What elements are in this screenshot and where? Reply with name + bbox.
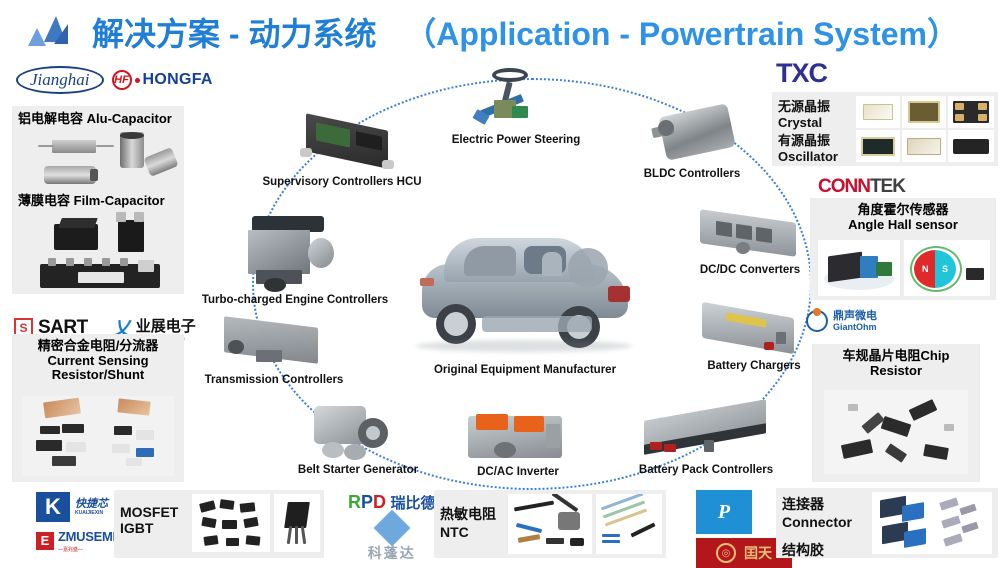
photo-mosfet-packages xyxy=(192,494,270,552)
brand-logo-giantohm: 鼎声微电 GiantOhm xyxy=(806,310,877,332)
panel-current-sensing-heading-cn: 精密合金电阻/分流器 xyxy=(12,334,184,354)
slide-title-bar: 解决方案 - 动力系统 （Application - Powertrain Sy… xyxy=(0,8,1000,56)
node-dcdc-converters-label: DC/DC Converters xyxy=(688,264,812,278)
photo-film-capacitor-tall xyxy=(108,210,156,256)
giantohm-logo: 鼎声微电 GiantOhm xyxy=(833,310,877,332)
page-title-cn: 解决方案 - 动力系统 xyxy=(92,16,376,52)
brand-logos-kuaijiexin-zmusemi: K 快捷芯KUAIJIEXIN E ZMUSEMI—嘉兆盛— xyxy=(36,492,116,553)
node-battery-pack-controllers: Battery Pack Controllers xyxy=(620,398,792,478)
hongfa-logo: HFHONGFA xyxy=(112,70,213,90)
photo-chip-resistors xyxy=(824,390,968,474)
ntc-label-en: NTC xyxy=(440,524,496,540)
photo-hall-motor xyxy=(818,240,900,296)
panel-connector: 连接器 Connector 结构胶 xyxy=(776,488,998,558)
node-supervisory-controllers-label: Supervisory Controllers HCU xyxy=(256,176,428,190)
node-battery-pack-controllers-label: Battery Pack Controllers xyxy=(620,464,792,478)
photo-snap-in-capacitor xyxy=(40,160,114,190)
photo-bldc-motor xyxy=(618,102,766,168)
kuaijiexin-logo: K 快捷芯KUAIJIEXIN xyxy=(36,492,108,522)
brand-logos-rpd-kepengda: RPD 瑞比德 科蓬达 xyxy=(348,492,435,563)
node-turbo-engine-controllers-label: Turbo-charged Engine Controllers xyxy=(190,294,400,308)
zmusemi-mark-icon: E xyxy=(36,532,54,550)
panel-hall-sensor-heading-cn: 角度霍尔传感器 xyxy=(810,198,996,218)
node-electric-power-steering-label: Electric Power Steering xyxy=(446,134,586,148)
node-oem-center: Original Equipment Manufacturer xyxy=(392,212,658,378)
panel-hall-sensor-heading-en: Angle Hall sensor xyxy=(810,218,996,233)
mountain-logo-icon xyxy=(26,14,78,50)
node-supervisory-controllers: Supervisory Controllers HCU xyxy=(256,108,428,190)
brand-logo-jianghai-hongfa: Jianghai HFHONGFA xyxy=(16,66,213,94)
txc-line-4: Oscillator xyxy=(778,149,838,164)
kepengda-mark-icon xyxy=(373,510,410,547)
panel-chip-resistor-heading-cn: 车规晶片电阻Chip xyxy=(812,344,980,364)
panel-hall-sensor: 角度霍尔传感器 Angle Hall sensor N S xyxy=(810,198,996,300)
photo-oscillator-2 xyxy=(902,130,946,162)
panel-capacitors-heading: 铝电解电容 Alu-Capacitor xyxy=(12,106,184,127)
page-title: 解决方案 - 动力系统 （Application - Powertrain Sy… xyxy=(92,9,959,55)
photo-shunt-resistors xyxy=(22,396,174,476)
panel-current-sensing-heading-en2: Resistor/Shunt xyxy=(12,368,184,383)
mosfet-label: MOSFET xyxy=(120,504,178,520)
photo-hcu-module xyxy=(256,108,428,176)
photo-dcdc-converter xyxy=(688,206,812,264)
connector-label-cn: 连接器 xyxy=(782,494,852,514)
conntek-logo: CONN xyxy=(818,176,870,198)
node-bldc-controllers-label: BLDC Controllers xyxy=(618,168,766,182)
photo-eps-assembly xyxy=(446,66,586,134)
photo-cutaway-car xyxy=(392,212,658,370)
panel-chip-resistor-heading-en: Resistor xyxy=(812,364,980,379)
photo-crystal-1 xyxy=(856,96,900,128)
photo-bridge-rectifier xyxy=(274,494,320,552)
node-belt-starter-generator-label: Belt Starter Generator xyxy=(288,464,428,478)
photo-dcac-inverter xyxy=(454,404,582,466)
adhesive-label-cn: 结构胶 xyxy=(782,540,852,560)
photo-ntc-sensors xyxy=(508,494,592,554)
jianghai-logo: Jianghai xyxy=(16,66,104,94)
node-battery-chargers-label: Battery Chargers xyxy=(692,360,816,374)
txc-line-3: 有源晶振 xyxy=(778,130,838,149)
panel-chip-resistor: 车规晶片电阻Chip Resistor xyxy=(812,344,980,482)
panel-crystal-oscillator: 无源晶振 Crystal 有源晶振 Oscillator xyxy=(772,92,998,166)
photo-battery-pack xyxy=(620,398,792,464)
panel-ntc-thermistor: 热敏电阻 NTC xyxy=(434,490,666,558)
node-turbo-engine-controllers: Turbo-charged Engine Controllers xyxy=(190,208,400,308)
panel-mosfet-igbt: MOSFET IGBT xyxy=(114,490,324,558)
txc-line-1: 无源晶振 xyxy=(778,96,838,115)
node-transmission-controllers-label: Transmission Controllers xyxy=(196,374,352,388)
node-battery-chargers: Battery Chargers xyxy=(692,300,816,374)
slide-canvas: 解决方案 - 动力系统 （Application - Powertrain Sy… xyxy=(0,0,1000,562)
node-dcac-inverter-label: DC/AC Inverter xyxy=(454,466,582,480)
txc-logo: TXC xyxy=(776,58,827,89)
node-belt-starter-generator: Belt Starter Generator xyxy=(288,398,428,478)
node-electric-power-steering: Electric Power Steering xyxy=(446,66,586,148)
photo-belt-starter-generator xyxy=(288,398,428,464)
photo-crystal-3 xyxy=(948,96,994,128)
photo-oscillator-3 xyxy=(948,130,994,162)
zmusemi-logo: E ZMUSEMI—嘉兆盛— xyxy=(36,528,116,553)
photo-turbo-engine xyxy=(190,208,400,294)
node-dcdc-converters: DC/DC Converters xyxy=(688,206,812,278)
panel-capacitors: 铝电解电容 Alu-Capacitor 薄膜电容 Film-Capacitor xyxy=(12,106,184,294)
igbt-label: IGBT xyxy=(120,520,178,536)
ntc-label-cn: 热敏电阻 xyxy=(440,504,496,524)
node-bldc-controllers: BLDC Controllers xyxy=(618,102,766,182)
photo-connectors xyxy=(872,492,992,554)
connector-label-en: Connector xyxy=(782,514,852,530)
guotian-mark-icon: ◎ xyxy=(716,543,736,563)
panel-film-capacitor-heading: 薄膜电容 Film-Capacitor xyxy=(18,194,165,209)
photo-ntc-wires xyxy=(596,494,662,554)
photo-transmission-module xyxy=(196,316,352,374)
photo-axial-capacitor xyxy=(36,134,116,158)
page-title-en: （Application - Powertrain System） xyxy=(404,16,959,52)
photo-power-module xyxy=(34,256,166,292)
photo-film-capacitor-box xyxy=(52,216,104,254)
photo-alu-capacitor-cans xyxy=(116,130,178,186)
node-transmission-controllers: Transmission Controllers xyxy=(196,316,352,388)
photo-battery-charger xyxy=(692,300,816,360)
brand-logo-conntek: CONNTEK xyxy=(818,176,905,198)
panel-current-sensing-heading-en1: Current Sensing xyxy=(12,354,184,369)
photo-hall-magnet: N S xyxy=(904,240,990,296)
kuaijiexin-mark-icon: K xyxy=(36,492,70,522)
photo-oscillator-1 xyxy=(856,130,900,162)
txc-line-2: Crystal xyxy=(778,115,838,130)
photo-crystal-2 xyxy=(902,96,946,128)
panel-current-sensing: 精密合金电阻/分流器 Current Sensing Resistor/Shun… xyxy=(12,334,184,482)
node-dcac-inverter: DC/AC Inverter xyxy=(454,404,582,480)
pconn-logo: P xyxy=(696,490,752,534)
